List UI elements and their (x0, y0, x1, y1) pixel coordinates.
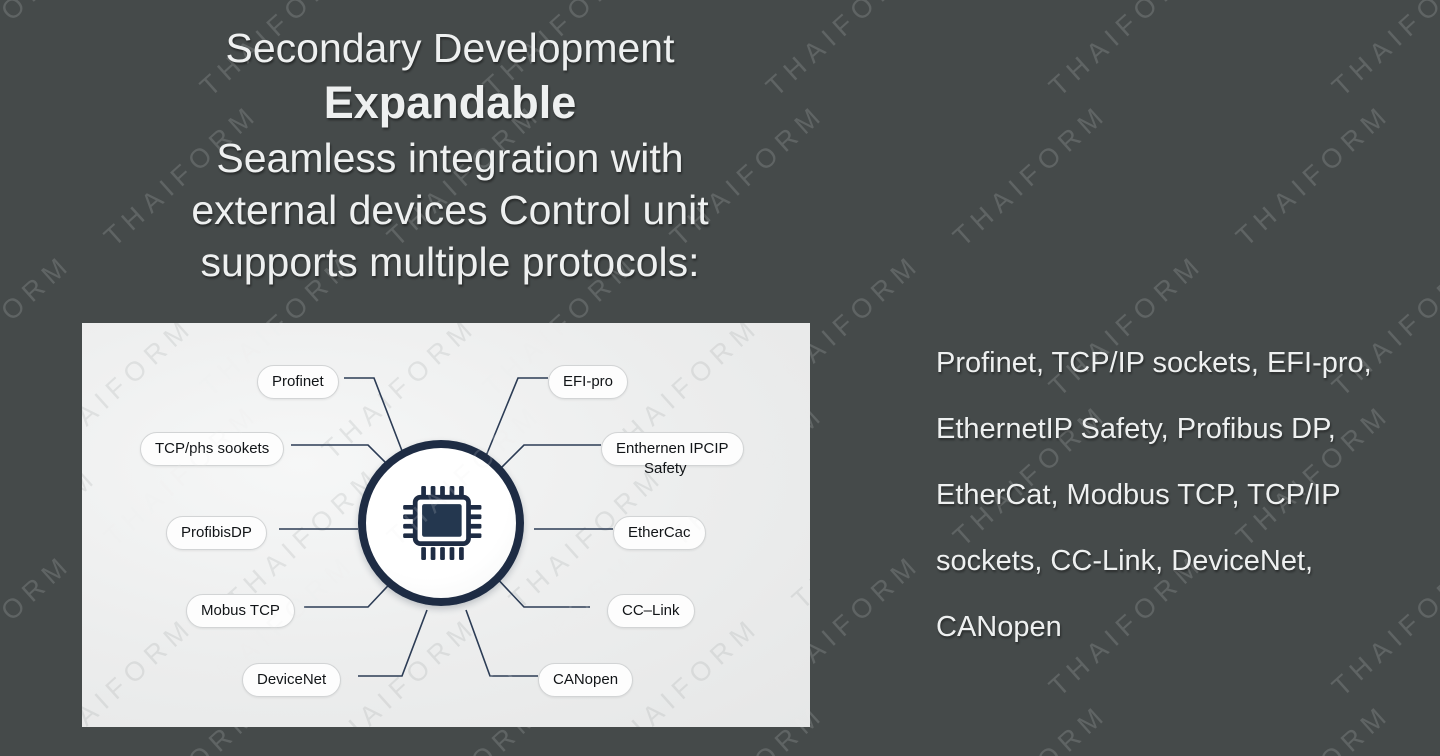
headline-line-1: Secondary Development (0, 22, 900, 74)
connector-devicenet (358, 610, 427, 676)
connector-cc-link (492, 573, 590, 607)
label-tcp-phs[interactable]: TCP/phs sookets (140, 432, 284, 466)
watermark-text: THAIFORM (1190, 53, 1437, 296)
headline-line-4: external devices Control unit (0, 184, 900, 236)
label-canopen[interactable]: CANopen (538, 663, 633, 697)
watermark-text: THAIFORM (907, 53, 1154, 296)
center-control-unit-node (358, 440, 524, 606)
watermark-text: THAIFORM (0, 653, 22, 756)
protocol-diagram-panel: THAIFORMTHAIFORMTHAIFORMTHAIFORMTHAIFORM… (82, 323, 810, 727)
watermark-text: THAIFORM (1190, 653, 1437, 756)
label-efi-pro[interactable]: EFI-pro (548, 365, 628, 399)
watermark-text: THAIFORM (0, 353, 22, 596)
watermark-text: THAIFORM (907, 653, 1154, 756)
headline-line-3: Seamless integration with (0, 132, 900, 184)
watermark-text: THAIFORM (1286, 0, 1440, 147)
headline-block: Secondary Development Expandable Seamles… (0, 22, 900, 288)
label-ipcip-safety-sub: Safety (644, 460, 687, 477)
label-ethercac[interactable]: EtherCac (613, 516, 706, 550)
label-mobus-tcp[interactable]: Mobus TCP (186, 594, 295, 628)
label-devicenet[interactable]: DeviceNet (242, 663, 341, 697)
microchip-icon (398, 480, 484, 566)
headline-line-5: supports multiple protocols: (0, 236, 900, 288)
label-profibis-dp[interactable]: ProfibisDP (166, 516, 267, 550)
protocol-list-paragraph: Profinet, TCP/IP sockets, EFI-pro, Ether… (936, 330, 1428, 660)
label-profinet[interactable]: Profinet (257, 365, 339, 399)
connector-canopen (466, 610, 538, 676)
watermark-text: THAIFORM (1003, 0, 1250, 147)
label-cc-link[interactable]: CC–Link (607, 594, 695, 628)
headline-line-2: Expandable (0, 74, 900, 132)
